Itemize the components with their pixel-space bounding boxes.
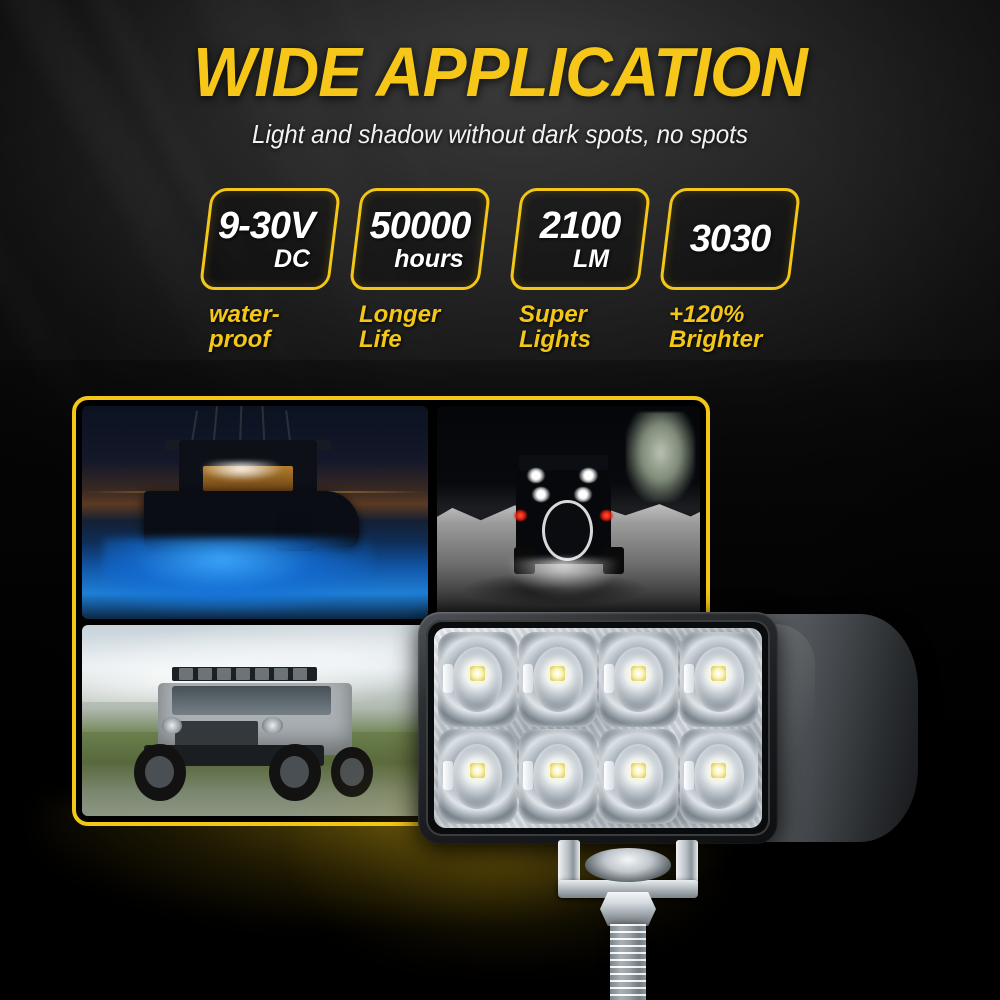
lamp-housing-front — [418, 612, 778, 844]
spec-badge-lumens: 2100 LM Super Lights — [515, 188, 645, 352]
photo-jeep-wrangler — [82, 625, 428, 816]
lamp-assembly — [418, 612, 888, 847]
led-chip — [631, 666, 646, 681]
led-array — [438, 632, 758, 824]
badge-unit: LM — [573, 246, 609, 272]
spec-badge-lifetime: 50000 hours Longer Life — [355, 188, 485, 352]
mounting-bracket — [558, 840, 698, 902]
product-image-led-light-bar — [418, 612, 978, 992]
badge-outline: 3030 — [659, 188, 802, 290]
spec-badge-chip: 3030 +120% Brighter — [665, 188, 795, 352]
badge-unit: DC — [274, 246, 310, 272]
bracket-washer — [585, 848, 671, 882]
spec-badge-voltage: 9-30V DC water- proof — [205, 188, 335, 352]
header: WIDE APPLICATION Light and shadow withou… — [0, 36, 1000, 148]
led-cell — [438, 729, 517, 824]
page-subtitle: Light and shadow without dark spots, no … — [35, 120, 965, 148]
badge-value: 2100 — [540, 207, 621, 245]
badge-caption: Longer Life — [355, 302, 485, 352]
page-title: WIDE APPLICATION — [30, 36, 970, 108]
badge-caption: water- proof — [205, 302, 335, 352]
led-cell — [438, 632, 517, 727]
badge-unit: hours — [394, 246, 463, 272]
photo-suv-offroad-night — [437, 406, 700, 619]
badge-outline: 50000 hours — [349, 188, 492, 290]
hex-nut-icon — [600, 892, 656, 926]
led-cell — [680, 729, 759, 824]
lamp-lens — [434, 628, 762, 828]
led-cell — [680, 632, 759, 727]
led-chip — [711, 666, 726, 681]
marketing-banner: WIDE APPLICATION Light and shadow withou… — [0, 0, 1000, 1000]
photo-boat-night — [82, 406, 428, 619]
led-chip — [711, 763, 726, 778]
led-chip — [550, 763, 565, 778]
badge-caption: Super Lights — [515, 302, 645, 352]
badge-caption: +120% Brighter — [665, 302, 795, 352]
led-chip — [470, 666, 485, 681]
led-chip — [470, 763, 485, 778]
badge-value: 3030 — [690, 220, 771, 258]
led-cell — [599, 632, 678, 727]
spec-badge-row: 9-30V DC water- proof 50000 hours Longer… — [0, 188, 1000, 358]
led-cell — [519, 729, 598, 824]
badge-outline: 2100 LM — [509, 188, 652, 290]
led-chip — [631, 763, 646, 778]
badge-value: 50000 — [370, 207, 471, 245]
badge-value: 9-30V — [218, 207, 314, 245]
threaded-bolt — [610, 924, 646, 1000]
led-cell — [599, 729, 678, 824]
led-cell — [519, 632, 598, 727]
badge-outline: 9-30V DC — [199, 188, 342, 290]
led-chip — [550, 666, 565, 681]
